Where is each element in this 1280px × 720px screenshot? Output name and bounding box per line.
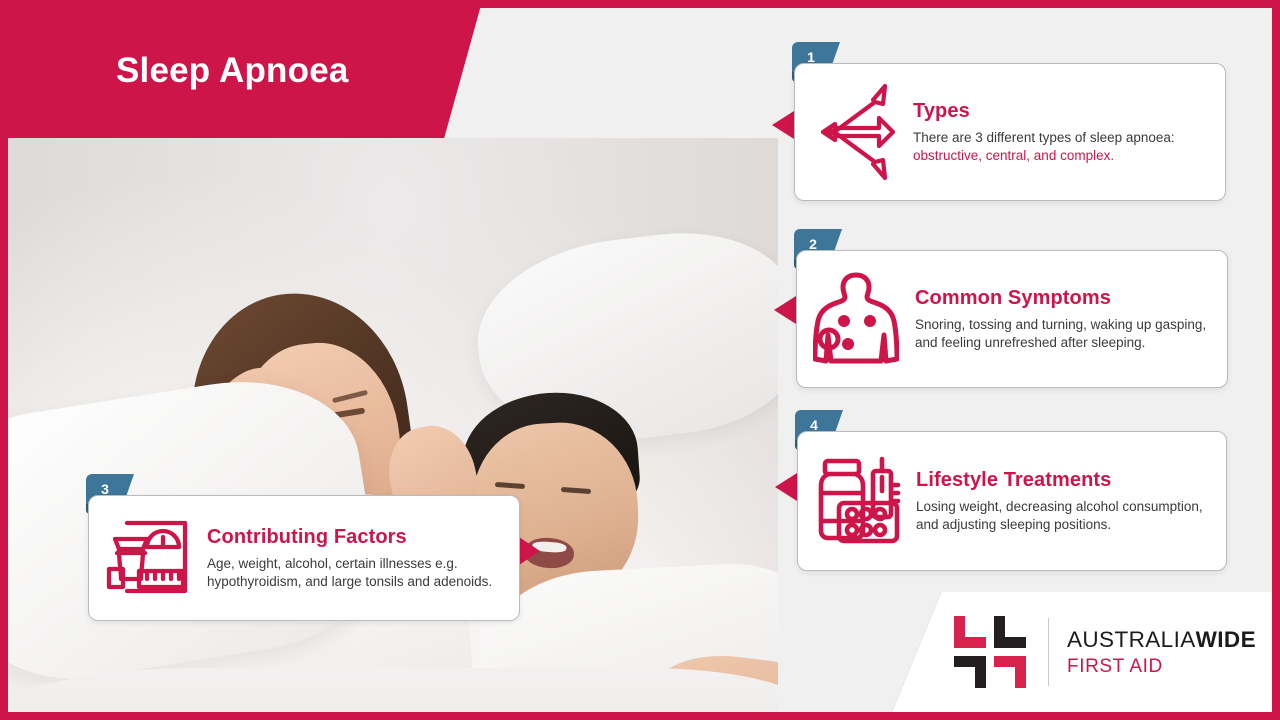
card-lifestyle-treatments[interactable]: Lifestyle Treatments Losing weight, decr… [797,431,1227,571]
medicine-bottle-pills-icon [798,455,916,547]
logo-line-2: FIRST AID [1067,656,1256,678]
card-types-body: Types There are 3 different types of sle… [913,100,1225,165]
title-banner: Sleep Apnoea [8,8,483,138]
card-lifestyle-treatments-text: Losing weight, decreasing alcohol consum… [916,498,1210,534]
card-types[interactable]: Types There are 3 different types of sle… [794,63,1226,201]
card-contributing-factors-text: Age, weight, alcohol, certain illnesses … [207,555,503,591]
card-contributing-factors-title: Contributing Factors [207,526,503,549]
logo-line-1: AUSTRALIAWIDE [1067,627,1256,653]
card-types-text-accent: obstructive, central, and complex. [913,148,1114,163]
card-contributing-factors-body: Contributing Factors Age, weight, alcoho… [207,526,519,591]
logo-divider [1048,618,1049,686]
human-body-symptoms-icon [797,269,915,369]
australia-wide-cross-logo-icon [954,616,1026,688]
weight-scale-tape-icon [89,515,207,601]
page-title: Sleep Apnoea [116,51,349,91]
card-pointer-2 [774,296,796,324]
split-arrows-icon [795,78,913,186]
logo-wordmark: AUSTRALIAWIDE FIRST AID [1067,627,1256,678]
bedroom-photo [8,138,778,712]
card-lifestyle-treatments-body: Lifestyle Treatments Losing weight, decr… [916,469,1226,534]
blanket [8,668,778,712]
card-common-symptoms-body: Common Symptoms Snoring, tossing and tur… [915,287,1227,352]
card-contributing-factors[interactable]: Contributing Factors Age, weight, alcoho… [88,495,520,621]
card-common-symptoms-title: Common Symptoms [915,287,1211,310]
infographic-root: Sleep Apnoea 1 Types There are 3 differe… [0,0,1280,720]
card-types-text: There are 3 different types of sleep apn… [913,129,1209,165]
logo-panel: AUSTRALIAWIDE FIRST AID [892,592,1272,712]
card-common-symptoms-text: Snoring, tossing and turning, waking up … [915,316,1211,352]
card-lifestyle-treatments-title: Lifestyle Treatments [916,469,1210,492]
logo-quadrant-bottom-right [994,656,1026,688]
card-types-title: Types [913,100,1209,123]
card-pointer-1 [772,111,794,139]
card-common-symptoms[interactable]: Common Symptoms Snoring, tossing and tur… [796,250,1228,388]
logo-quadrant-bottom-left [954,656,986,688]
card-types-text-plain: There are 3 different types of sleep apn… [913,130,1175,145]
logo-line-1-part-2: WIDE [1196,627,1256,652]
logo-quadrant-top-right [994,616,1026,648]
logo-line-1-part-1: AUSTRALIA [1067,627,1196,652]
card-pointer-4 [775,473,797,501]
canvas: Sleep Apnoea 1 Types There are 3 differe… [8,8,1272,712]
logo-quadrant-top-left [954,616,986,648]
